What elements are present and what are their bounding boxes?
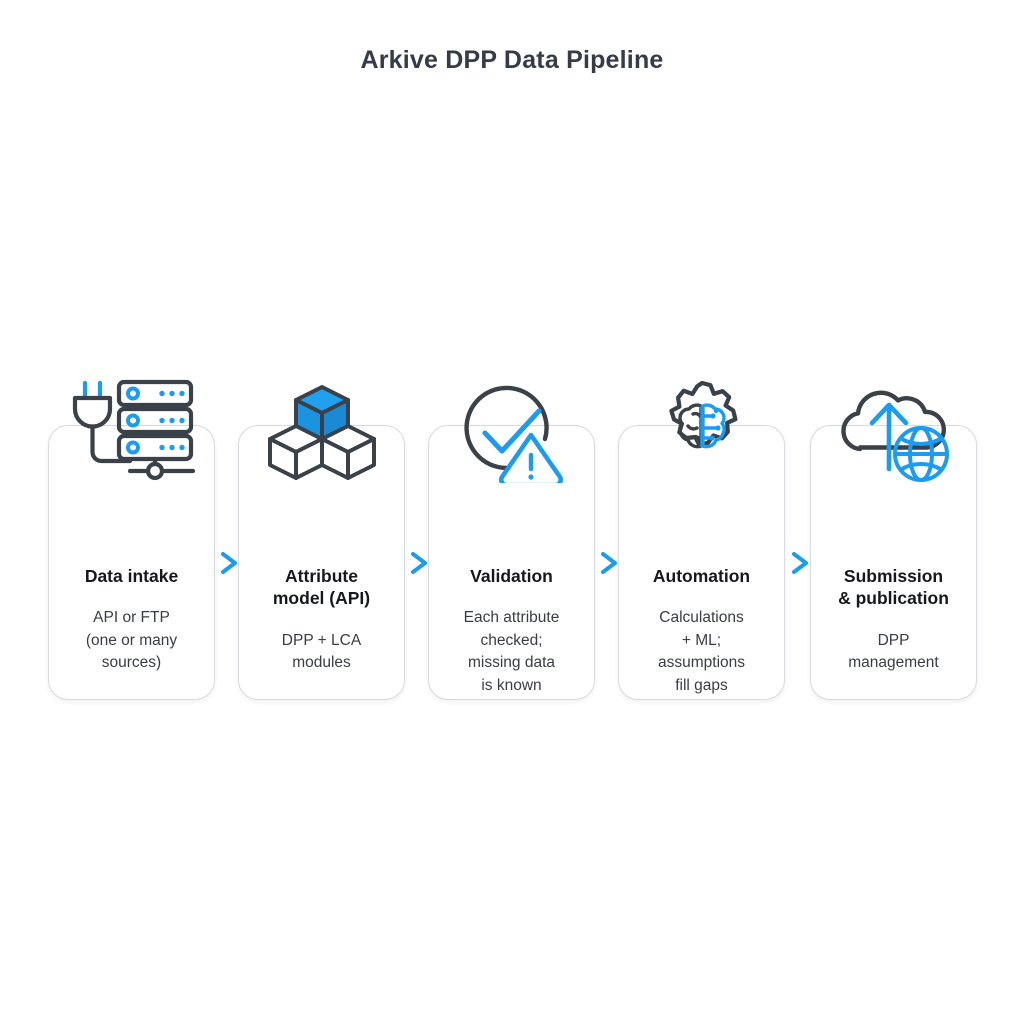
stage-description: DPP management — [803, 630, 984, 675]
pipeline-stage-validation[interactable]: Validation Each attribute checked; missi… — [428, 425, 595, 700]
stage-text-block: Automation Calculations + ML; assumption… — [609, 565, 794, 697]
pipeline-stage-automation[interactable]: Automation Calculations + ML; assumption… — [618, 425, 785, 700]
stage-title: Submission & publication — [803, 565, 984, 610]
page-title: Arkive DPP Data Pipeline — [0, 46, 1024, 75]
stage-description: Calculations + ML; assumptions fill gaps — [611, 607, 792, 697]
stage-text-block: Attribute model (API) DPP + LCA modules — [229, 565, 414, 675]
pipeline-flow: Data intake API or FTP (one or many sour… — [48, 370, 976, 710]
pipeline-stage-attribute-model[interactable]: Attribute model (API) DPP + LCA modules — [238, 425, 405, 700]
stage-description: DPP + LCA modules — [231, 630, 412, 675]
stage-text-block: Data intake API or FTP (one or many sour… — [39, 565, 224, 675]
pipeline-stage-submission-publication[interactable]: Submission & publication DPP management — [810, 425, 977, 700]
stage-description: API or FTP (one or many sources) — [41, 607, 222, 674]
stage-description: Each attribute checked; missing data is … — [421, 607, 602, 697]
stage-title: Validation — [421, 565, 602, 587]
stage-text-block: Validation Each attribute checked; missi… — [419, 565, 604, 697]
stage-title: Data intake — [41, 565, 222, 587]
diagram-canvas: Arkive DPP Data Pipeline — [0, 0, 1024, 1024]
pipeline-stage-data-intake[interactable]: Data intake API or FTP (one or many sour… — [48, 425, 215, 700]
stage-title: Attribute model (API) — [231, 565, 412, 610]
stage-text-block: Submission & publication DPP management — [801, 565, 986, 675]
stage-title: Automation — [611, 565, 792, 587]
